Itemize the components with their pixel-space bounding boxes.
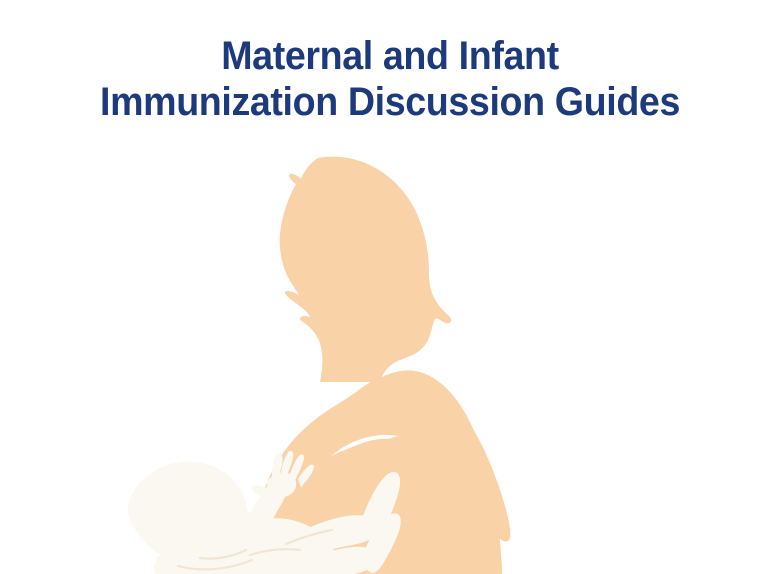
illustration-pregnant-woman <box>0 140 780 574</box>
page-title-line-2: Immunization Discussion Guides <box>23 82 756 122</box>
page-title-line-1: Maternal and Infant <box>23 36 756 76</box>
poster-canvas: Maternal and Infant Immunization Discuss… <box>0 0 780 574</box>
page-title: Maternal and Infant Immunization Discuss… <box>0 36 780 122</box>
